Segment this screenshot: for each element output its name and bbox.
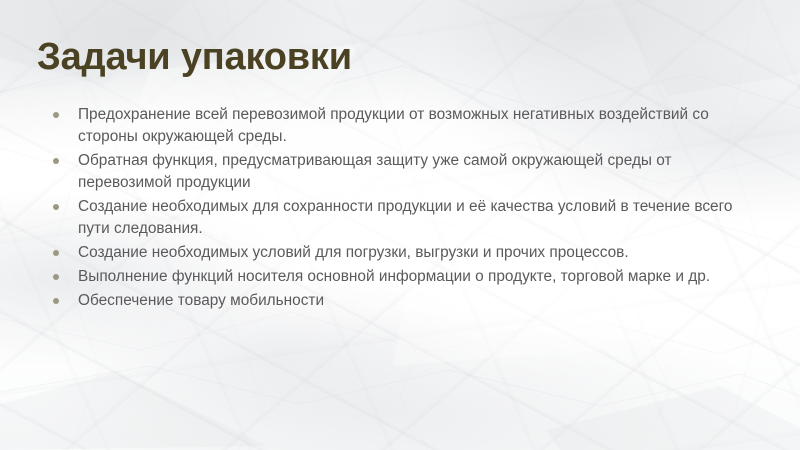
list-item: Предохранение всей перевозимой продукции… <box>46 104 760 148</box>
list-item: Обеспечение товару мобильности <box>46 290 760 312</box>
bullet-dot-icon <box>53 158 59 164</box>
list-item-label: Выполнение функций носителя основной инф… <box>78 266 760 288</box>
page-title: Задачи упаковки <box>37 36 352 80</box>
list-item: Выполнение функций носителя основной инф… <box>46 266 760 288</box>
bullet-dot-icon <box>53 298 59 304</box>
list-item-label: Обратная функция, предусматривающая защи… <box>78 150 760 194</box>
list-item: Создание необходимых условий для погрузк… <box>46 242 760 264</box>
bullet-dot-icon <box>53 274 59 280</box>
list-item: Создание необходимых для сохранности про… <box>46 196 760 240</box>
list-item-label: Создание необходимых условий для погрузк… <box>78 242 760 264</box>
presentation-slide: Задачи упаковки Предохранение всей перев… <box>0 0 800 450</box>
bullet-dot-icon <box>53 250 59 256</box>
bullet-dot-icon <box>53 112 59 118</box>
list-item-label: Создание необходимых для сохранности про… <box>78 196 760 240</box>
bullet-list: Предохранение всей перевозимой продукции… <box>46 104 760 314</box>
bullet-dot-icon <box>53 204 59 210</box>
list-item-label: Предохранение всей перевозимой продукции… <box>78 104 760 148</box>
list-item-label: Обеспечение товару мобильности <box>78 290 760 312</box>
slide-content: Задачи упаковки Предохранение всей перев… <box>0 0 800 450</box>
list-item: Обратная функция, предусматривающая защи… <box>46 150 760 194</box>
